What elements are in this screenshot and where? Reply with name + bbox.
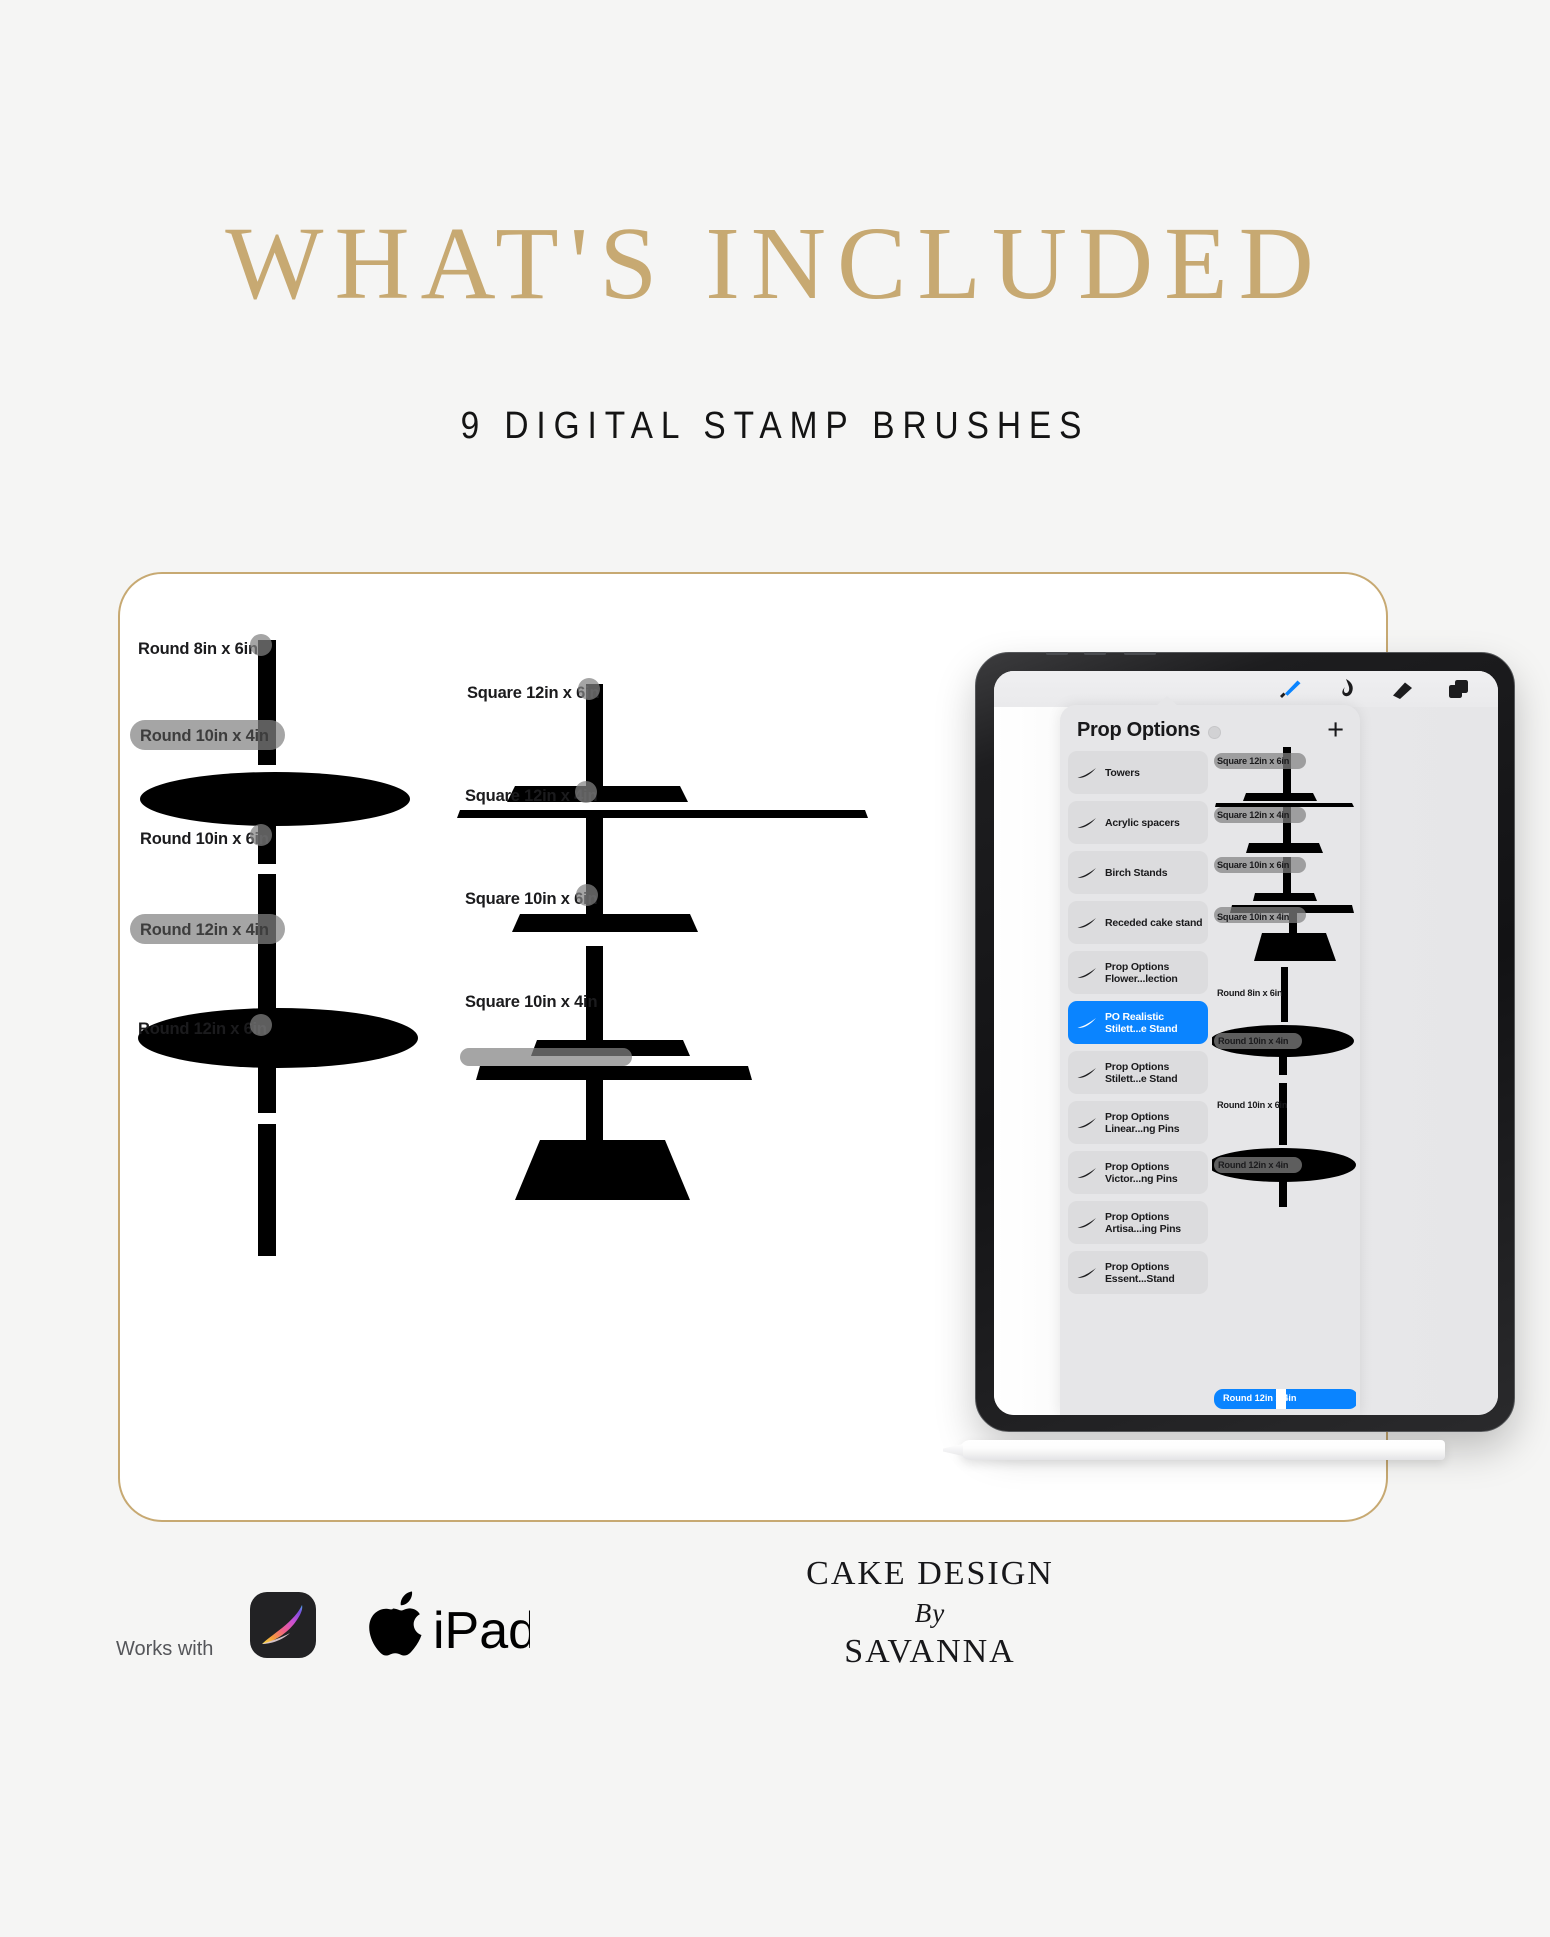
brush-stroke-icon bbox=[1076, 1065, 1098, 1081]
brush-stroke-icon bbox=[1076, 965, 1098, 981]
preview-label: Square 10in x 6in bbox=[1217, 860, 1289, 870]
works-with-label: Works with bbox=[116, 1638, 213, 1661]
brush-stroke-icon bbox=[1076, 765, 1098, 781]
brush-stroke-icon bbox=[1076, 1115, 1098, 1131]
ipad-device: Prop Options + Towers Acrylic spacers bbox=[975, 652, 1515, 1452]
brush-library-panel: Prop Options + Towers Acrylic spacers bbox=[1060, 705, 1360, 1415]
brush-stroke-icon bbox=[1076, 915, 1098, 931]
panel-title: Prop Options bbox=[1077, 719, 1200, 742]
add-brush-button[interactable]: + bbox=[1327, 720, 1344, 740]
label-dot-square-12x6 bbox=[578, 678, 600, 700]
apple-ipad-logo: iPad bbox=[355, 1588, 530, 1662]
label-dot-round-10x6 bbox=[250, 824, 272, 846]
ipad-body: Prop Options + Towers Acrylic spacers bbox=[975, 652, 1515, 1432]
label-round-10x4: Round 10in x 4in bbox=[140, 727, 269, 746]
preview-label: Square 10in x 4in bbox=[1217, 912, 1289, 922]
apple-logo-icon bbox=[369, 1592, 421, 1656]
label-dot-square-10x6 bbox=[576, 884, 598, 906]
eraser-icon[interactable] bbox=[1390, 677, 1416, 701]
panel-collapse-icon[interactable] bbox=[1208, 726, 1221, 739]
brush-item-label: Towers bbox=[1105, 767, 1140, 779]
brush-list[interactable]: Towers Acrylic spacers Birch Stands bbox=[1068, 751, 1208, 1415]
brush-item-label: Prop Options Flower...lection bbox=[1105, 961, 1208, 985]
brush-item[interactable]: Towers bbox=[1068, 751, 1208, 794]
label-dot-round-8x6 bbox=[250, 634, 272, 656]
page-title: WHAT'S INCLUDED bbox=[0, 212, 1550, 316]
label-round-12x6: Round 12in x 6in bbox=[138, 1020, 267, 1039]
preview-label: Round 10in x 4in bbox=[1218, 1036, 1288, 1046]
brush-item-selected[interactable]: PO Realistic Stilett...e Stand bbox=[1068, 1001, 1208, 1044]
label-round-8x6: Round 8in x 6in bbox=[138, 640, 258, 659]
preview-stand-artwork bbox=[1212, 745, 1356, 1415]
brush-item-label: Prop Options Essent...Stand bbox=[1105, 1261, 1208, 1285]
brand-lockup: CAKE DESIGN By SAVANNA bbox=[780, 1555, 1080, 1671]
brush-item[interactable]: Birch Stands bbox=[1068, 851, 1208, 894]
brush-item[interactable]: Acrylic spacers bbox=[1068, 801, 1208, 844]
brush-item-label: Birch Stands bbox=[1105, 867, 1167, 879]
paintbrush-icon[interactable] bbox=[1278, 677, 1304, 701]
layers-icon[interactable] bbox=[1446, 677, 1472, 701]
brush-stroke-icon bbox=[1076, 1165, 1098, 1181]
brush-preview-column: Square 12in x 6in Square 12in x 4in Squa… bbox=[1212, 745, 1356, 1415]
label-square-10x4: Square 10in x 4in bbox=[465, 993, 597, 1012]
brush-item-label: Prop Options Linear...ng Pins bbox=[1105, 1111, 1208, 1135]
label-dot-round-12x6 bbox=[250, 1014, 272, 1036]
brush-item-label: Acrylic spacers bbox=[1105, 817, 1180, 829]
preview-selection-gap-icon bbox=[1276, 1389, 1286, 1409]
ipad-wordmark: iPad bbox=[433, 1602, 530, 1660]
smudge-icon[interactable] bbox=[1334, 677, 1360, 701]
brand-line-2: By bbox=[780, 1593, 1080, 1633]
volume-button-down[interactable] bbox=[1084, 652, 1106, 655]
procreate-toolbar bbox=[994, 671, 1498, 707]
brush-item-label: PO Realistic Stilett...e Stand bbox=[1105, 1011, 1208, 1035]
procreate-logo-icon bbox=[250, 1592, 316, 1658]
apple-pencil[interactable] bbox=[960, 1440, 1445, 1460]
brush-item[interactable]: Prop Options Flower...lection bbox=[1068, 951, 1208, 994]
label-pill-square-10x4 bbox=[460, 1048, 632, 1066]
preview-label: Round 12in x 4in bbox=[1218, 1160, 1288, 1170]
brush-stroke-icon bbox=[1076, 865, 1098, 881]
procreate-canvas[interactable]: Prop Options + Towers Acrylic spacers bbox=[994, 671, 1498, 1415]
brush-item-label: Prop Options Victor...ng Pins bbox=[1105, 1161, 1208, 1185]
brush-stroke-icon bbox=[1076, 1215, 1098, 1231]
page-subtitle: 9 DIGITAL STAMP BRUSHES bbox=[93, 405, 1457, 448]
brush-item[interactable]: Receded cake stand bbox=[1068, 901, 1208, 944]
label-dot-square-12x4 bbox=[575, 781, 597, 803]
brush-item-label: Prop Options Stilett...e Stand bbox=[1105, 1061, 1208, 1085]
panel-notch-icon bbox=[1156, 696, 1178, 706]
brush-stroke-icon bbox=[1076, 1015, 1098, 1031]
brush-item-label: Prop Options Artisa...ing Pins bbox=[1105, 1211, 1208, 1235]
label-round-12x4: Round 12in x 4in bbox=[140, 921, 269, 940]
preview-label: Round 8in x 6in bbox=[1217, 988, 1282, 998]
ipad-screen: Prop Options + Towers Acrylic spacers bbox=[994, 671, 1498, 1415]
brush-item-label: Receded cake stand bbox=[1105, 917, 1202, 929]
preview-label: Square 12in x 4in bbox=[1217, 810, 1289, 820]
preview-label: Round 10in x 6in bbox=[1217, 1100, 1287, 1110]
brush-item[interactable]: Prop Options Artisa...ing Pins bbox=[1068, 1201, 1208, 1244]
volume-button-up[interactable] bbox=[1046, 652, 1068, 655]
brush-item[interactable]: Prop Options Victor...ng Pins bbox=[1068, 1151, 1208, 1194]
brand-line-1: CAKE DESIGN bbox=[780, 1555, 1080, 1593]
power-button[interactable] bbox=[1124, 652, 1156, 655]
brush-stroke-icon bbox=[1076, 1265, 1098, 1281]
preview-label: Square 12in x 6in bbox=[1217, 756, 1289, 766]
brush-item[interactable]: Prop Options Linear...ng Pins bbox=[1068, 1101, 1208, 1144]
brush-stroke-icon bbox=[1076, 815, 1098, 831]
brush-item[interactable]: Prop Options Stilett...e Stand bbox=[1068, 1051, 1208, 1094]
brush-item[interactable]: Prop Options Essent...Stand bbox=[1068, 1251, 1208, 1294]
brand-line-3: SAVANNA bbox=[780, 1633, 1080, 1671]
